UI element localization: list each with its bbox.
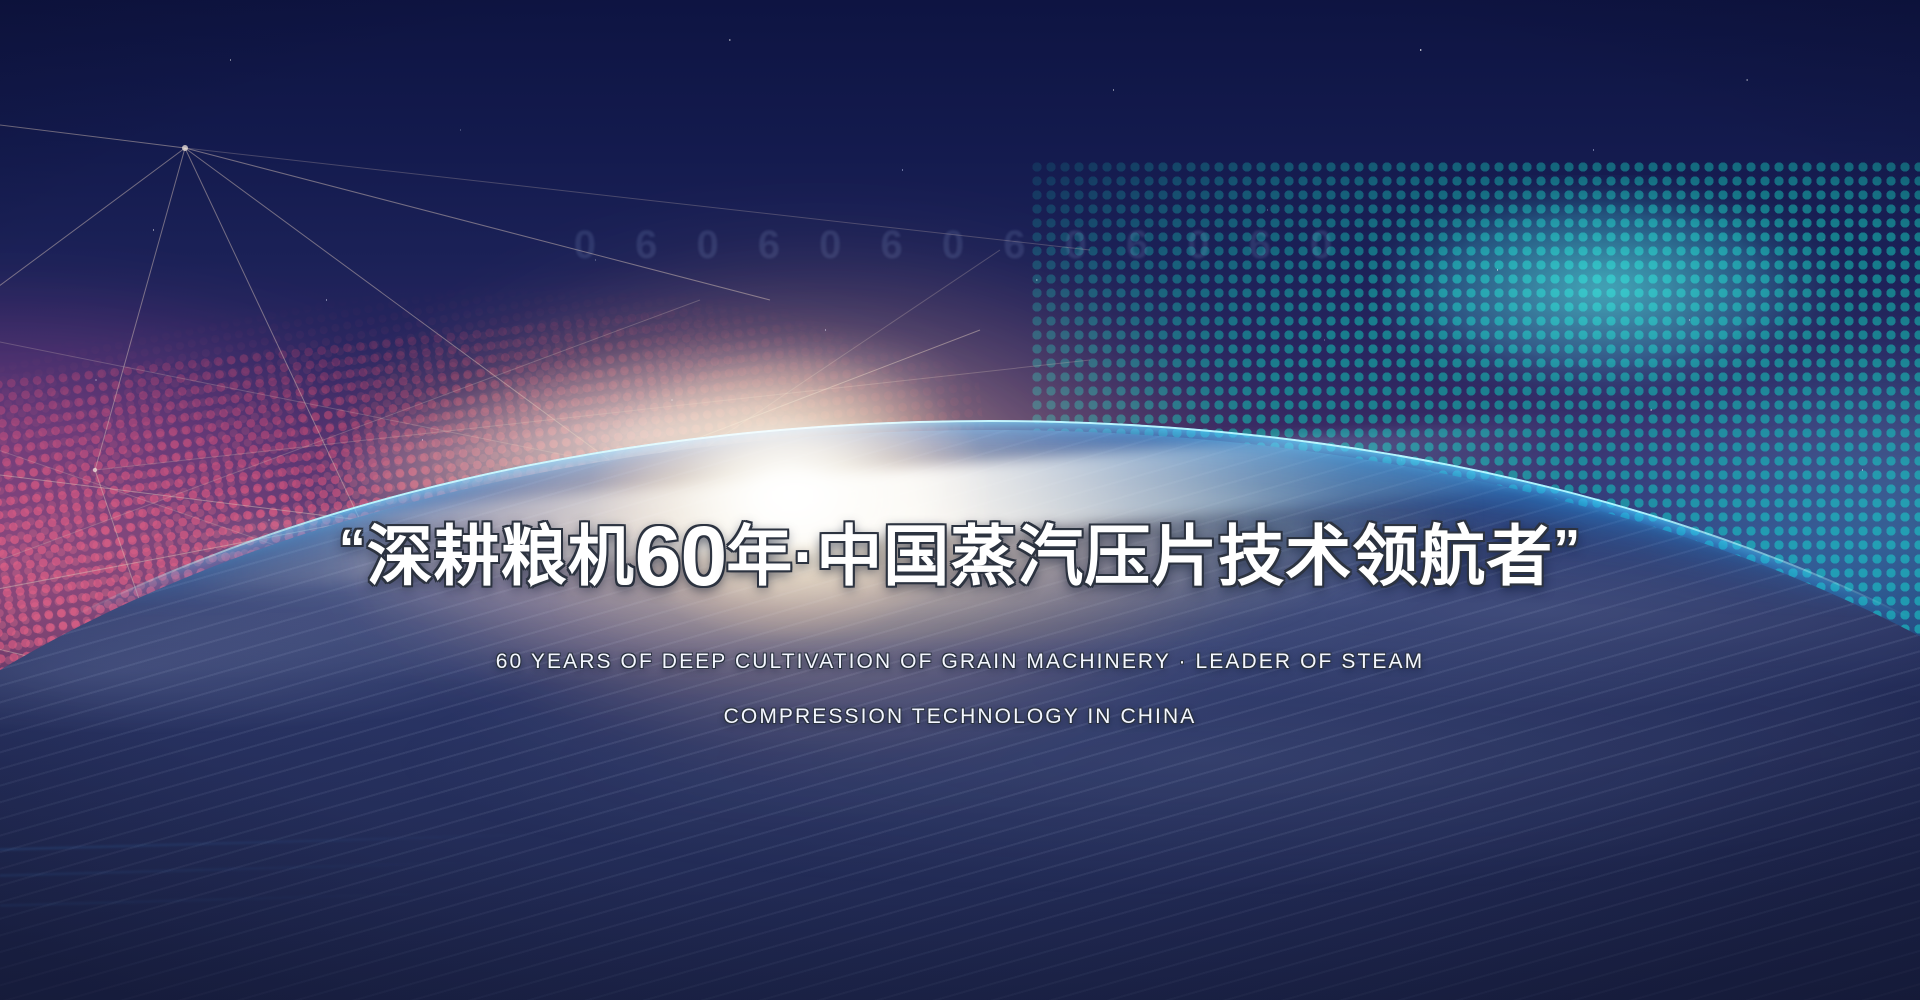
banner-canvas: 0 6 0 6 0 6 0 6 0 6 0 6 0: [0, 0, 1920, 1000]
page-title: “深耕粮机60年·中国蒸汽压片技术领航者”: [0, 512, 1920, 601]
subtitle-line-2: COMPRESSION TECHNOLOGY IN CHINA: [0, 700, 1920, 734]
light-bars-decoration: [0, 809, 762, 990]
banner-copy: “深耕粮机60年·中国蒸汽压片技术领航者” 60 YEARS OF DEEP C…: [0, 468, 1920, 756]
headline-middle: 年·中国蒸汽压片技术领航者: [726, 519, 1553, 593]
ghost-numeral-row: 0 6 0 6 0 6 0 6 0 6 0 6 0: [0, 222, 1920, 268]
wave-crest-right-highlight: [1380, 175, 1920, 505]
subtitle-line-1: 60 YEARS OF DEEP CULTIVATION OF GRAIN MA…: [0, 645, 1920, 679]
open-quote: “: [339, 519, 367, 579]
headline-prefix: 深耕粮机: [367, 519, 635, 593]
headline-number: 60: [635, 509, 726, 603]
close-quote: ”: [1553, 519, 1581, 579]
